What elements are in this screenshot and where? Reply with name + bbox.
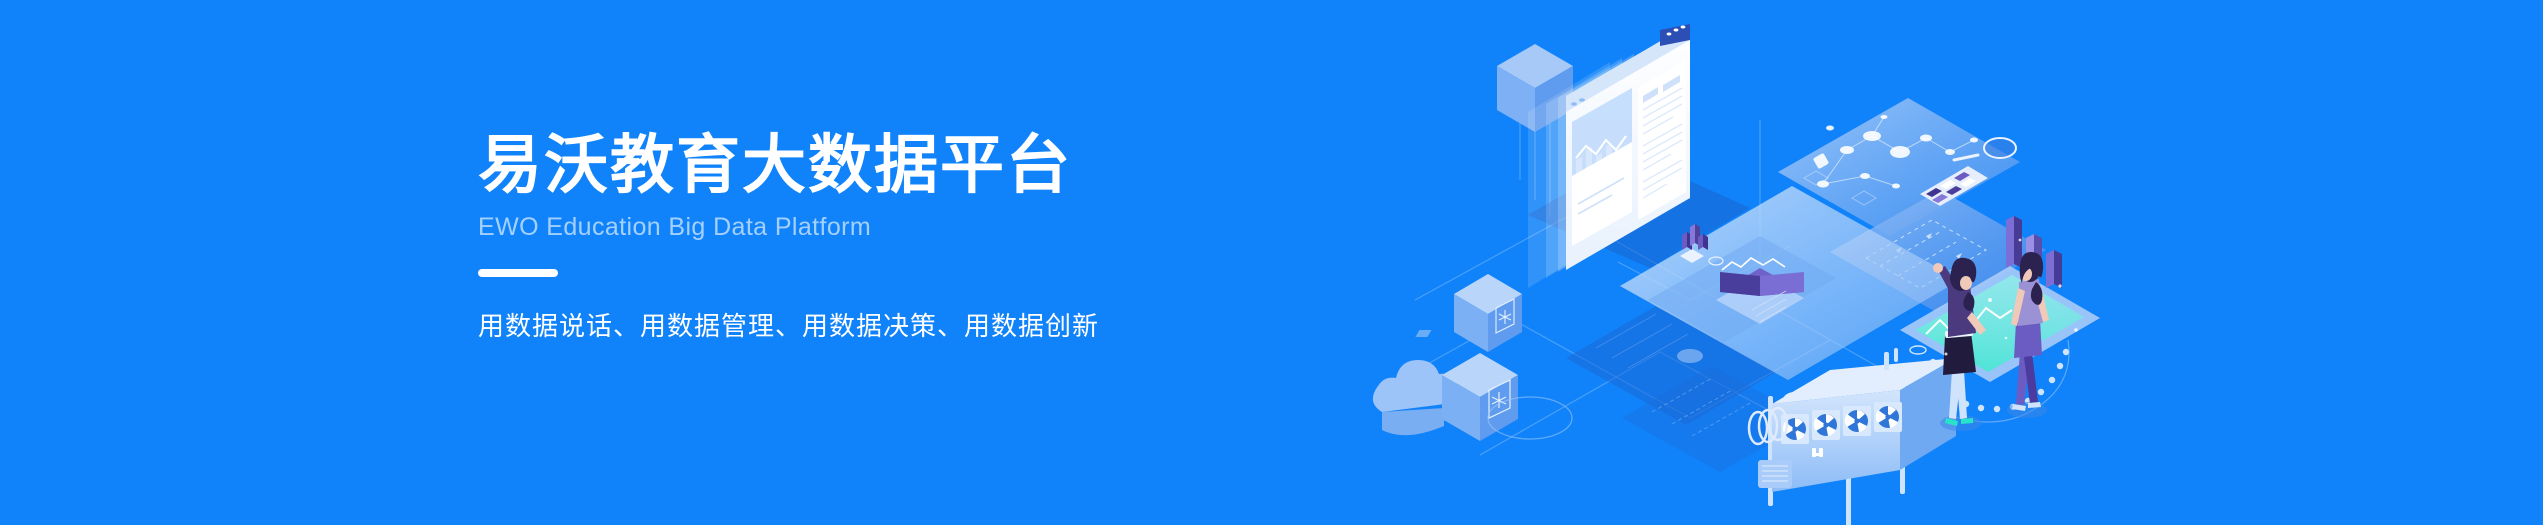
- page-title: 易沃教育大数据平台: [478, 128, 1238, 202]
- page-subtitle: EWO Education Big Data Platform: [478, 212, 1238, 242]
- isometric-cube-star-upper: [1454, 274, 1522, 352]
- banner-tagline: 用数据说话、用数据管理、用数据决策、用数据创新: [478, 309, 1238, 343]
- isometric-cube-star-lower: [1442, 353, 1518, 441]
- title-divider: [478, 269, 558, 277]
- hero-banner: 易沃教育大数据平台 EWO Education Big Data Platfor…: [0, 0, 2543, 525]
- banner-text-block: 易沃教育大数据平台 EWO Education Big Data Platfor…: [478, 128, 1238, 343]
- isometric-big-data-illustration: [1360, 0, 2160, 525]
